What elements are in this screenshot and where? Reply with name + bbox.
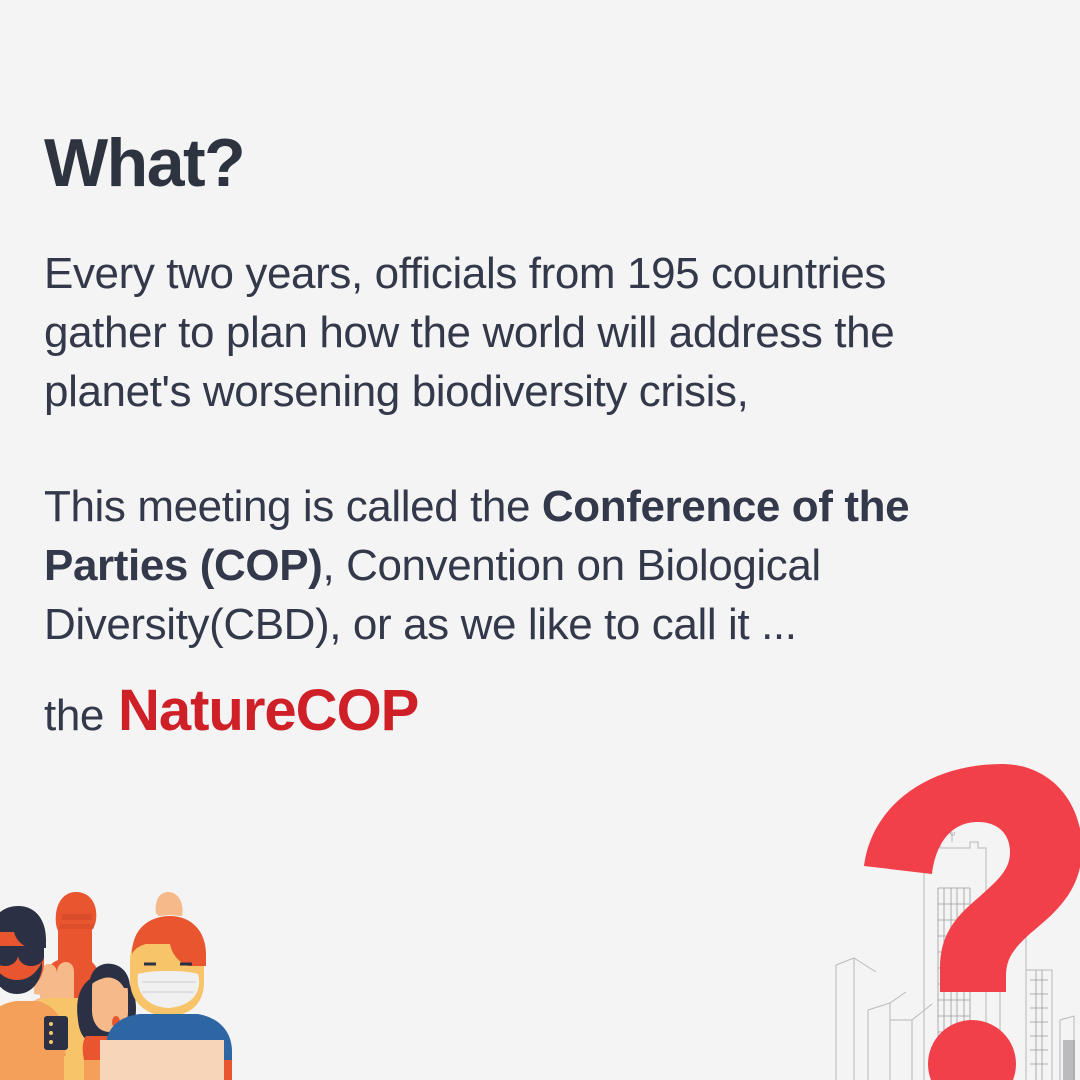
definition-lead-text: This meeting is called the (44, 482, 542, 531)
brand-prefix: the (44, 691, 104, 741)
brand-name-naturecop: NatureCOP (118, 677, 418, 744)
masked-person-with-blank-sign (100, 892, 232, 1080)
raised-open-hand (26, 962, 80, 1080)
brand-line: the NatureCOP (44, 677, 1034, 744)
poster-content: What? Every two years, officials from 19… (44, 128, 1034, 744)
question-mark-graphic (820, 720, 1080, 1080)
definition-paragraph: This meeting is called the Conference of… (44, 478, 1034, 655)
city-skyline-line-art (820, 720, 1080, 1080)
protest-crowd-illustration (0, 870, 240, 1080)
yellow-figure-torso (18, 998, 122, 1080)
poster-canvas: What? Every two years, officials from 19… (0, 0, 1080, 1080)
raised-fist (42, 892, 104, 1080)
woman-with-scarf (77, 964, 140, 1080)
page-title: What? (44, 128, 1034, 199)
intro-paragraph: Every two years, officials from 195 coun… (44, 245, 984, 422)
person-with-sunglasses-holding-phone (0, 906, 68, 1080)
